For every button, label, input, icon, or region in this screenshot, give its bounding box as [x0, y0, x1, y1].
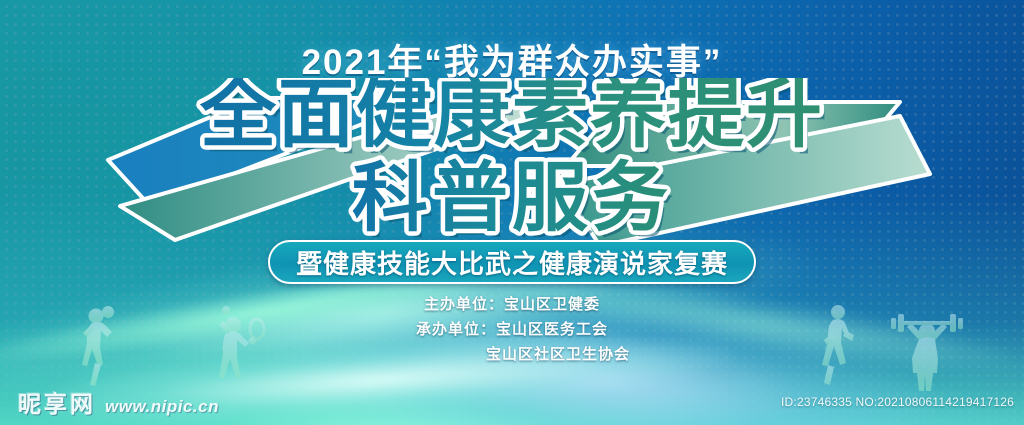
main-title-artwork: 全面健康素养提升 全面健康素养提升 全面健康素养提升 科普服务 科普服务 科普服…	[102, 78, 922, 238]
organizer-line-1: 主办单位：宝山区卫健委	[0, 292, 1024, 317]
watermark-url: www.nipic.cn	[105, 397, 219, 417]
title-line2-fill: 科普服务	[352, 156, 672, 238]
organizer-list: 主办单位：宝山区卫健委 承办单位：宝山区医务工会 宝山区社区卫生协会	[0, 292, 1024, 367]
asset-id-tag: ID:23746335 NO:20210806114219417126	[781, 395, 1014, 409]
main-title: 全面健康素养提升 全面健康素养提升 全面健康素养提升 科普服务 科普服务 科普服…	[0, 78, 1024, 238]
organizer-line-2: 承办单位：宝山区医务工会	[0, 317, 1024, 342]
watermark: 昵享网 www.nipic.cn	[18, 385, 219, 419]
subtitle-text: 暨健康技能大比武之健康演说家复赛	[296, 244, 728, 281]
title-line1-fill: 全面健康素养提升	[199, 78, 824, 157]
poster-canvas: 2021年“我为群众办实事” 全	[0, 0, 1024, 425]
organizer-line-3: 宝山区社区卫生协会	[0, 342, 1024, 367]
subtitle-banner: 暨健康技能大比武之健康演说家复赛	[268, 240, 756, 284]
watermark-brand: 昵享网	[18, 385, 96, 419]
